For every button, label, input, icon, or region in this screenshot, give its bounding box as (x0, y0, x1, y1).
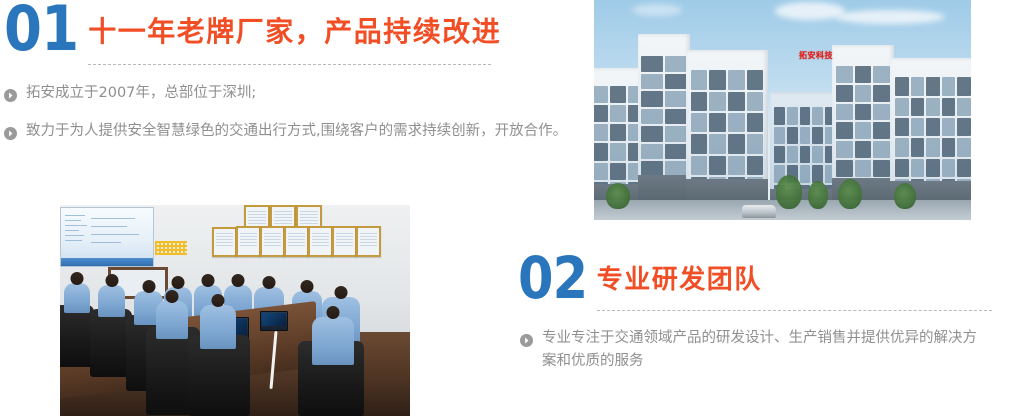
certificate-frame (356, 226, 381, 257)
tree (606, 183, 630, 209)
window-grid (836, 66, 891, 196)
section-02-heading: 02 专业研发团队 (510, 252, 1009, 311)
window-grid (641, 56, 687, 194)
cloud (835, 10, 945, 24)
person (200, 305, 236, 349)
office-chair (60, 305, 94, 367)
window-grid (594, 86, 644, 198)
section-02-bullet-list: 专业专注于交通领域产品的研发设计、生产销售并提供优异的解决方案和优质的服务 (520, 327, 1009, 375)
projector-screen (60, 207, 154, 267)
section-02-divider (597, 310, 992, 311)
certificate-frame (308, 226, 333, 257)
section-number-01: 01 (4, 0, 78, 57)
building-photo: 拓安科技 (594, 0, 971, 220)
window-grid (895, 77, 971, 197)
person (98, 285, 125, 317)
meeting-room-photo (60, 205, 410, 416)
section-title-02: 专业研发团队 (597, 252, 992, 297)
window-grid (691, 70, 763, 196)
section-rd-team: 02 专业研发团队 专业专注于交通领域产品的研发设计、生产销售并提供优异的解决方… (510, 252, 1009, 392)
building-tower-a (638, 34, 690, 220)
list-item: 专业专注于交通领域产品的研发设计、生产销售并提供优异的解决方案和优质的服务 (520, 327, 1009, 375)
section-01-heading: 01 十一年老牌厂家，产品持续改进 (0, 0, 580, 65)
certificate-frame (332, 226, 357, 257)
chevron-circle-right-icon (520, 332, 533, 345)
certificate-frame (212, 227, 237, 257)
yellow-swatch (155, 241, 187, 255)
section-01-divider (88, 64, 491, 65)
list-item: 拓安成立于2007年，总部位于深圳; (4, 82, 580, 106)
chevron-circle-right-icon (4, 87, 17, 100)
bullet-text: 致力于为人提供安全智慧绿色的交通出行方式,围绕客户的需求持续创新，开放合作。 (26, 120, 567, 144)
list-item: 致力于为人提供安全智慧绿色的交通出行方式,围绕客户的需求持续创新，开放合作。 (4, 120, 580, 144)
certificate-frame (260, 226, 285, 257)
person (64, 283, 90, 313)
section-company-history: 01 十一年老牌厂家，产品持续改进 拓安成立于2007年，总部位于深圳; (0, 0, 580, 175)
section-01-bullet-list: 拓安成立于2007年，总部位于深圳; 致力于为人提供安全智慧绿色的交通出行方式,… (4, 82, 580, 144)
laptop (260, 311, 288, 331)
person (156, 301, 188, 339)
chevron-circle-right-icon (4, 125, 17, 138)
cloud (632, 4, 682, 16)
section-number-02: 02 (518, 252, 587, 305)
building-sign-text: 拓安科技 (799, 50, 833, 61)
bullet-text: 专业专注于交通领域产品的研发设计、生产销售并提供优异的解决方案和优质的服务 (542, 327, 984, 375)
building-front (686, 50, 768, 220)
bullet-text: 拓安成立于2007年，总部位于深圳; (26, 82, 256, 106)
person (312, 317, 354, 365)
screen-diagram (65, 212, 149, 254)
certificate-frame (236, 226, 261, 257)
tree (894, 183, 916, 209)
tree (808, 181, 828, 209)
car (742, 205, 776, 218)
tree (838, 179, 862, 209)
tree (776, 175, 802, 209)
certificate-frame (284, 226, 309, 257)
section-title-01: 十一年老牌厂家，产品持续改进 (88, 0, 501, 49)
screen-taskbar (61, 258, 153, 266)
